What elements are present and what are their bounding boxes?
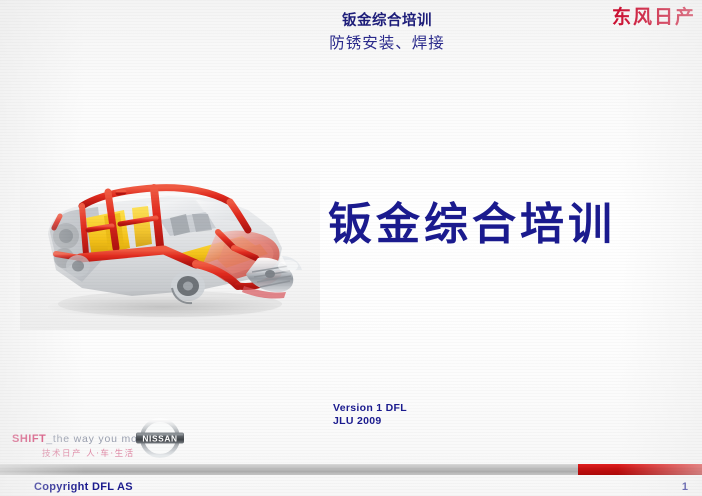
version-info: Version 1 DFL JLU 2009: [333, 402, 407, 428]
slide-header: 钣金综合培训 防锈安装、焊接: [272, 12, 502, 54]
footer-bar-gray-segment: [0, 464, 578, 475]
header-subtitle: 防锈安装、焊接: [272, 33, 502, 54]
car-body-svg: [20, 162, 320, 330]
nissan-logo: NISSAN: [129, 417, 191, 461]
version-line-1: Version 1 DFL: [333, 402, 407, 415]
slide-canvas: 东风日产 钣金综合培训 防锈安装、焊接: [0, 0, 702, 496]
header-title: 钣金综合培训: [272, 12, 502, 31]
car-body-cutaway-image: [20, 162, 320, 330]
footer-copyright: Copyright DFL AS: [34, 481, 133, 493]
page-title: 钣金综合培训: [328, 196, 616, 254]
footer-page-number: 1: [682, 481, 688, 493]
shift-tagline-chinese: 技术日产 人·车·生活: [42, 447, 135, 459]
nissan-wordmark: NISSAN: [142, 433, 177, 443]
shift-word: SHIFT: [12, 433, 46, 445]
version-line-2: JLU 2009: [333, 415, 407, 428]
footer-divider-bar: [0, 464, 702, 475]
dongfeng-nissan-logo: 东风日产: [612, 2, 696, 29]
nissan-logo-svg: NISSAN: [129, 417, 191, 461]
footer-bar-red-segment: [578, 464, 702, 475]
